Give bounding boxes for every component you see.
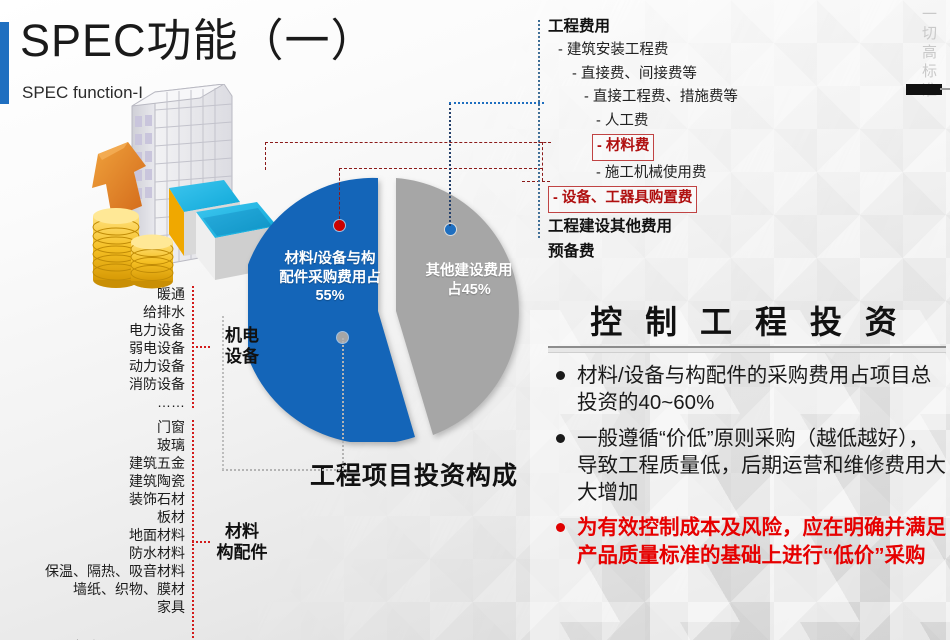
cost-tree-row: - 人工费 [548, 110, 808, 133]
pie-label-gray: 其他建设费用 占45% [410, 262, 528, 299]
list-item: 为有效控制成本及风险，应在明确并满足产品质量标准的基础上进行“低价”采购 [548, 514, 946, 569]
list-item: 材料/设备与构配件的采购费用占项目总投资的40~60% [548, 362, 946, 417]
connector-red-vertical-a [339, 168, 340, 224]
cost-tree-row: - 施工机械使用费 [548, 162, 808, 185]
conclusion-bullet-list: 材料/设备与构配件的采购费用占项目总投资的40~60% 一般遵循“价低”原则采购… [548, 362, 946, 569]
group-bracket-materials [192, 420, 194, 638]
group-label-materials: 材料构配件 [206, 522, 278, 563]
connector-blue-horizontal [449, 102, 544, 104]
cost-tree-row: - 建筑安装工程费 [548, 39, 808, 62]
conclusion-title: 控 制 工 程 投 资 [548, 305, 946, 340]
bullet-text: 材料/设备与构配件的采购费用占项目总投资的40~60% [577, 362, 946, 417]
bullet-dot-icon [556, 371, 565, 380]
material-list-materials: 门窗 玻璃 建筑五金 建筑陶瓷 装饰石材 板材 地面材料 防水材料 保温、隔热、… [20, 418, 185, 640]
conclusion-panel: 控 制 工 程 投 资 材料/设备与构配件的采购费用占项目总投资的40~60% … [548, 305, 946, 577]
material-list-electromechanical: 暖通 给排水 电力设备 弱电设备 动力设备 消防设备 …… [40, 285, 185, 411]
list-item: 电力设备 [40, 321, 185, 339]
pie-slice-gray [248, 176, 528, 442]
cost-tree-row-highlight-material[interactable]: - 材料费 [592, 134, 654, 160]
list-item: 保温、隔热、吸音材料 [20, 562, 185, 580]
title-accent-bar [0, 22, 9, 104]
bullet-text-emphasis: 为有效控制成本及风险，应在明确并满足产品质量标准的基础上进行“低价”采购 [577, 514, 946, 569]
cost-tree-row: - 直接工程费、措施费等 [548, 86, 808, 109]
connector-gray-vertical [342, 338, 344, 470]
pie-label-blue: 材料/设备与构 配件采购费用占 55% [254, 250, 406, 306]
bullet-dot-icon [556, 434, 565, 443]
watermark-bar [906, 84, 942, 95]
list-item: 动力设备 [40, 357, 185, 375]
cost-tree-row: 工程费用 [548, 14, 808, 39]
connector-red-vertical-b [265, 142, 266, 170]
connector-red-horizontal-b [265, 142, 542, 143]
list-item: 建筑陶瓷 [20, 472, 185, 490]
cost-tree-row: 工程建设其他费用 [548, 214, 808, 239]
list-item: 门窗 [20, 418, 185, 436]
list-item: 一般遵循“价低”原则采购（越低越好），导致工程质量低，后期运营和维修费用大大增加 [548, 425, 946, 507]
cost-tree: 工程费用 - 建筑安装工程费 - 直接费、间接费等 - 直接工程费、措施费等 -… [548, 14, 808, 264]
list-item: 墙纸、织物、膜材 [20, 580, 185, 598]
cost-tree-row-highlight-equipment[interactable]: - 设备、工器具购置费 [548, 186, 697, 212]
bullet-dot-icon [556, 523, 565, 532]
list-item: 装饰石材 [20, 490, 185, 508]
group-label-electromechanical: 机电设备 [214, 326, 270, 367]
list-item: 家具 [20, 598, 185, 616]
watermark-bar-tail [940, 88, 950, 90]
connector-blue-vertical [449, 103, 451, 226]
investment-composition-pie-chart: 材料/设备与构 配件采购费用占 55% 其他建设费用 占45% [248, 176, 528, 444]
list-item: 防水材料 [20, 544, 185, 562]
connector-red-tick-b [522, 181, 550, 182]
cost-tree-row: - 直接费、间接费等 [548, 63, 808, 86]
connector-red-vertical-c [542, 142, 543, 181]
list-item: 消防设备 [40, 375, 185, 393]
list-item: 板材 [20, 508, 185, 526]
slide-canvas: SPEC功能（一） SPEC function-I 一切高标准 [0, 0, 950, 640]
group-tick-electromechanical [192, 346, 210, 348]
bullet-text: 一般遵循“价低”原则采购（越低越好），导致工程质量低，后期运营和维修费用大大增加 [577, 425, 946, 507]
list-item: 建筑五金 [20, 454, 185, 472]
list-item: 暖通 [40, 285, 185, 303]
list-item: 弱电设备 [40, 339, 185, 357]
connector-gray-horizontal [222, 469, 344, 471]
list-item: 地面材料 [20, 526, 185, 544]
cost-tree-row: 预备费 [548, 239, 808, 264]
cost-tree-spine [538, 20, 540, 238]
list-item: 玻璃 [20, 436, 185, 454]
page-title: SPEC功能（一） [20, 18, 377, 63]
list-item: 给排水 [40, 303, 185, 321]
list-item: …… [40, 393, 185, 411]
connector-red-horizontal-a [339, 168, 542, 169]
conclusion-divider [548, 346, 946, 353]
